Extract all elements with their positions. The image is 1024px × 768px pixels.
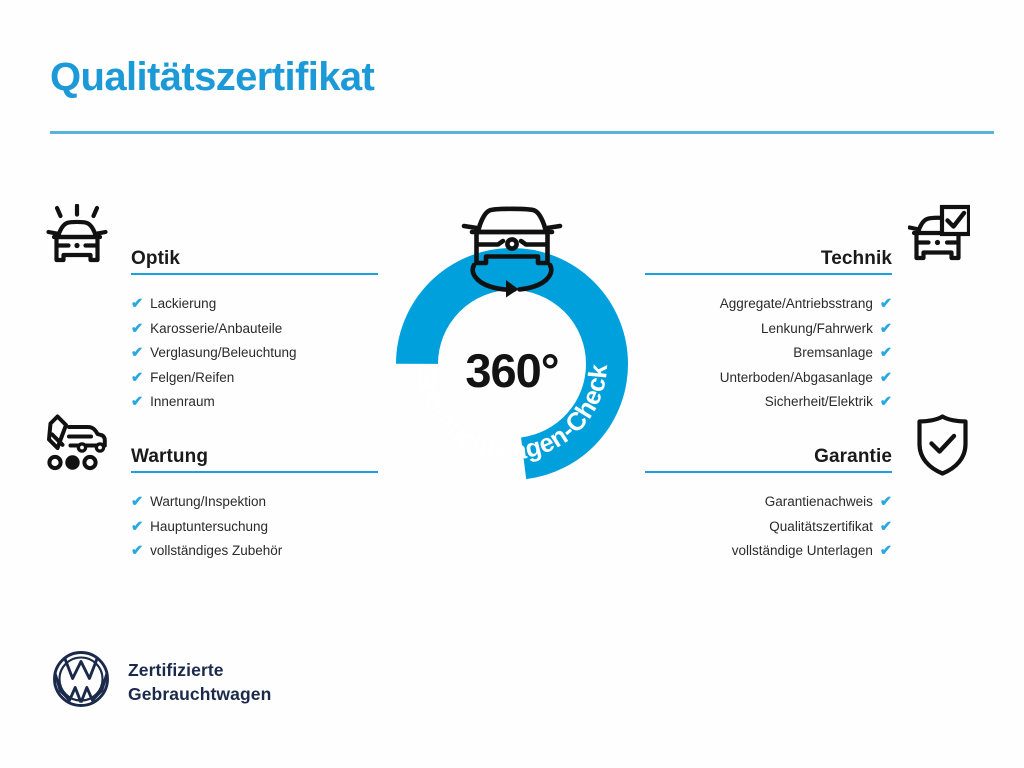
- checklist-technik: Aggregate/Antriebsstrang ✔ Lenkung/Fahrw…: [645, 292, 892, 415]
- badge-360-gebrauchtwagen-check: Gebrauchtwagen-Check: [376, 196, 648, 481]
- list-item: Bremsanlage ✔: [645, 341, 892, 366]
- list-item: vollständige Unterlagen ✔: [645, 539, 892, 564]
- check-icon: ✔: [880, 346, 892, 361]
- footer-line-2: Gebrauchtwagen: [128, 682, 271, 706]
- section-header: Technik: [645, 238, 892, 272]
- section-divider: [645, 471, 892, 473]
- check-icon: ✔: [131, 495, 143, 510]
- section-divider: [645, 273, 892, 275]
- list-item: ✔ Hauptuntersuchung: [131, 515, 378, 540]
- car-front-shine-icon: [46, 204, 108, 279]
- check-icon: ✔: [880, 544, 892, 559]
- list-item: Lenkung/Fahrwerk ✔: [645, 317, 892, 342]
- list-item-label: Unterboden/Abgasanlage: [720, 366, 873, 391]
- section-header: Garantie: [645, 436, 892, 470]
- list-item-label: Karosserie/Anbauteile: [150, 317, 282, 342]
- car-front-checkbox-icon: [908, 204, 970, 275]
- header-divider: [50, 131, 994, 134]
- list-item: ✔ Innenraum: [131, 390, 378, 415]
- section-title-optik: Optik: [131, 248, 180, 270]
- check-icon: ✔: [880, 322, 892, 337]
- section-title-technik: Technik: [821, 248, 892, 270]
- check-icon: ✔: [880, 371, 892, 386]
- section-title-garantie: Garantie: [814, 446, 892, 468]
- volkswagen-logo: [52, 650, 110, 713]
- section-header: Optik: [131, 238, 378, 272]
- list-item: Qualitätszertifikat ✔: [645, 515, 892, 540]
- list-item-label: Aggregate/Antriebsstrang: [720, 292, 873, 317]
- check-icon: ✔: [880, 495, 892, 510]
- section-divider: [131, 273, 378, 275]
- footer-line-1: Zertifizierte: [128, 658, 271, 682]
- section-technik: Technik Aggregate/Antriebsstrang ✔ Lenku…: [645, 238, 892, 415]
- list-item: ✔ vollständiges Zubehör: [131, 539, 378, 564]
- check-icon: ✔: [131, 371, 143, 386]
- list-item-label: Garantienachweis: [765, 490, 873, 515]
- footer-lockup: Zertifizierte Gebrauchtwagen: [52, 650, 271, 713]
- list-item: ✔ Felgen/Reifen: [131, 366, 378, 391]
- list-item-label: Verglasung/Beleuchtung: [150, 341, 296, 366]
- section-garantie: Garantie Garantienachweis ✔ Qualitätszer…: [645, 436, 892, 564]
- list-item-label: Sicherheit/Elektrik: [765, 390, 873, 415]
- page-title: Qualitätszertifikat: [50, 55, 374, 99]
- footer-text: Zertifizierte Gebrauchtwagen: [128, 658, 271, 706]
- section-header: Wartung: [131, 436, 378, 470]
- list-item-label: Hauptuntersuchung: [150, 515, 268, 540]
- list-item: ✔ Verglasung/Beleuchtung: [131, 341, 378, 366]
- certificate-page: Qualitätszertifikat: [0, 0, 1024, 768]
- list-item-label: vollständiges Zubehör: [150, 539, 282, 564]
- check-icon: ✔: [131, 520, 143, 535]
- check-icon: ✔: [131, 297, 143, 312]
- car-front-rotate-icon: [450, 196, 574, 305]
- section-title-wartung: Wartung: [131, 446, 208, 468]
- check-icon: ✔: [880, 297, 892, 312]
- list-item: ✔ Lackierung: [131, 292, 378, 317]
- section-wartung: Wartung ✔ Wartung/Inspektion ✔ Hauptunte…: [131, 436, 378, 564]
- list-item: Garantienachweis ✔: [645, 490, 892, 515]
- check-icon: ✔: [880, 520, 892, 535]
- checklist-optik: ✔ Lackierung ✔ Karosserie/Anbauteile ✔ V…: [131, 292, 378, 415]
- shield-check-icon: [915, 414, 970, 481]
- check-icon: ✔: [880, 395, 892, 410]
- list-item: Sicherheit/Elektrik ✔: [645, 390, 892, 415]
- list-item: ✔ Karosserie/Anbauteile: [131, 317, 378, 342]
- list-item-label: Wartung/Inspektion: [150, 490, 266, 515]
- list-item: ✔ Wartung/Inspektion: [131, 490, 378, 515]
- checklist-garantie: Garantienachweis ✔ Qualitätszertifikat ✔…: [645, 490, 892, 564]
- section-optik: Optik ✔ Lackierung ✔ Karosserie/Anbautei…: [131, 238, 378, 415]
- list-item-label: Bremsanlage: [793, 341, 873, 366]
- list-item-label: Lenkung/Fahrwerk: [761, 317, 873, 342]
- list-item-label: Lackierung: [150, 292, 216, 317]
- list-item-label: Qualitätszertifikat: [769, 515, 873, 540]
- list-item-label: vollständige Unterlagen: [732, 539, 873, 564]
- check-icon: ✔: [131, 346, 143, 361]
- badge-center-label: 360°: [376, 343, 648, 398]
- list-item-label: Felgen/Reifen: [150, 366, 234, 391]
- section-divider: [131, 471, 378, 473]
- check-icon: ✔: [131, 395, 143, 410]
- check-icon: ✔: [131, 322, 143, 337]
- list-item: Aggregate/Antriebsstrang ✔: [645, 292, 892, 317]
- list-item: Unterboden/Abgasanlage ✔: [645, 366, 892, 391]
- pen-car-service-icon: [46, 414, 108, 481]
- list-item-label: Innenraum: [150, 390, 215, 415]
- checklist-wartung: ✔ Wartung/Inspektion ✔ Hauptuntersuchung…: [131, 490, 378, 564]
- check-icon: ✔: [131, 544, 143, 559]
